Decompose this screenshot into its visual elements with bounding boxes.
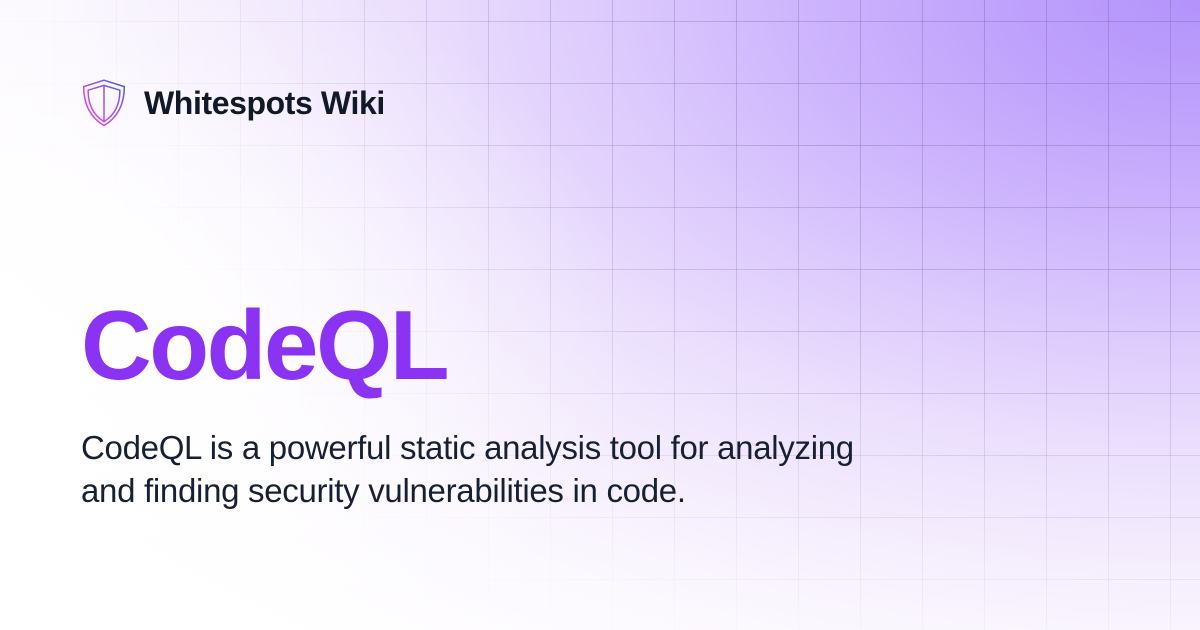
brand-header: Whitespots Wiki [81, 78, 385, 128]
brand-name: Whitespots Wiki [144, 87, 385, 119]
page-title: CodeQL [81, 296, 447, 394]
og-card: Whitespots Wiki CodeQL CodeQL is a power… [0, 0, 1200, 630]
content-layer: Whitespots Wiki CodeQL CodeQL is a power… [0, 0, 1200, 630]
shield-icon [81, 78, 127, 128]
page-description: CodeQL is a powerful static analysis too… [81, 426, 871, 512]
